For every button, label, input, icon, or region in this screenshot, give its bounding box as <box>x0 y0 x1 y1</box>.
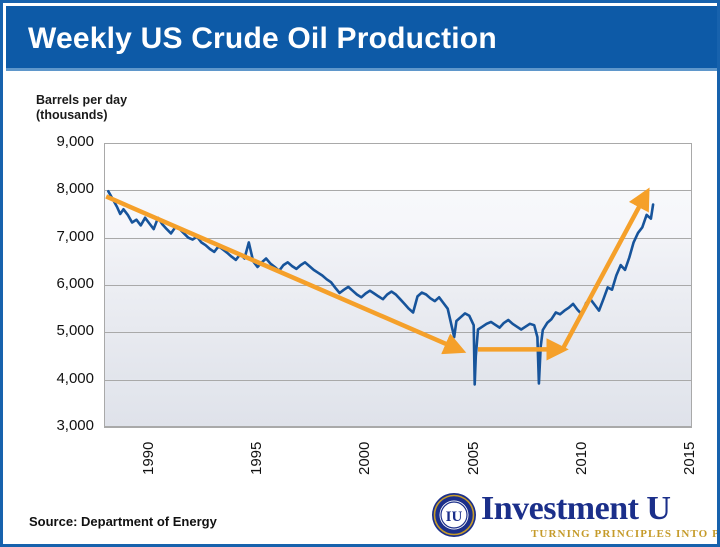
title-bar: Weekly US Crude Oil Production <box>6 6 720 68</box>
x-tick-label-2005: 2005 <box>465 442 482 475</box>
gridline-3000 <box>104 427 692 428</box>
x-tick-label-1995: 1995 <box>248 442 265 475</box>
y-tick-label-8000: 8,000 <box>24 180 94 197</box>
investment-u-logo: IU Investment U TURNING PRINCIPLES INTO … <box>431 490 693 542</box>
seal-icon: IU <box>431 492 477 538</box>
y-tick-label-3000: 3,000 <box>24 417 94 434</box>
annotation-layer <box>104 143 692 427</box>
x-tick-label-2015: 2015 <box>681 442 698 475</box>
declining-trend-arrow <box>106 196 456 348</box>
y-tick-label-6000: 6,000 <box>24 275 94 292</box>
y-tick-label-7000: 7,000 <box>24 228 94 245</box>
y-tick-label-5000: 5,000 <box>24 322 94 339</box>
x-tick-label-1990: 1990 <box>140 442 157 475</box>
logo-tagline: TURNING PRINCIPLES INTO PROFITS <box>531 528 720 540</box>
x-tick-label-2010: 2010 <box>573 442 590 475</box>
chart-figure: Weekly US Crude Oil Production Barrels p… <box>0 0 720 547</box>
logo-wordmark: Investment U <box>481 490 670 528</box>
title-underline <box>6 68 720 71</box>
svg-text:IU: IU <box>446 509 463 525</box>
source-note: Source: Department of Energy <box>29 514 217 529</box>
y-tick-label-9000: 9,000 <box>24 133 94 150</box>
y-tick-label-4000: 4,000 <box>24 370 94 387</box>
plot-area: 9,0008,0007,0006,0005,0004,0003,000 1990… <box>104 143 692 427</box>
page-title: Weekly US Crude Oil Production <box>28 22 497 56</box>
y-axis-title-line2: (thousands) <box>36 108 236 123</box>
y-axis-title-line1: Barrels per day <box>36 93 236 108</box>
y-axis-title: Barrels per day (thousands) <box>36 93 236 123</box>
rising-trend-arrow <box>562 197 644 350</box>
x-tick-label-2000: 2000 <box>356 442 373 475</box>
